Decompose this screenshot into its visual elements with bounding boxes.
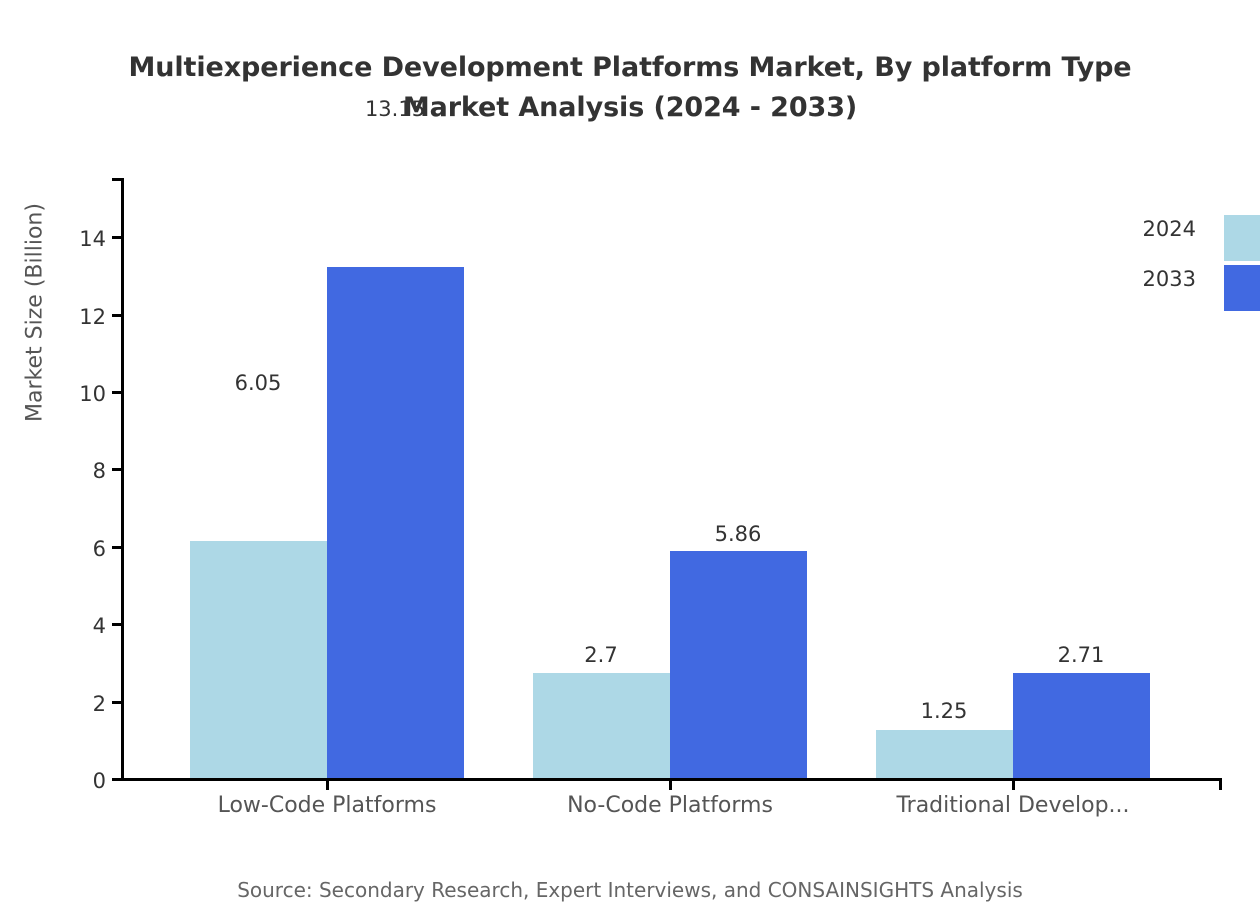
legend: 2024 2033 [1120, 215, 1260, 315]
bar-value-2033-traditional-development: 2.71 [1058, 643, 1105, 667]
bar-2033-no-code-platforms[interactable] [670, 551, 807, 778]
y-tick-8 [112, 468, 124, 471]
y-tick-0 [112, 778, 124, 781]
legend-swatch-2024 [1224, 215, 1260, 261]
y-tick-label-8: 8 [0, 459, 106, 483]
y-tick-14 [112, 236, 124, 239]
y-tick-label-2: 2 [0, 692, 106, 716]
title-line-2: Market Analysis (2024 - 2033) [0, 88, 1260, 128]
y-tick-label-4: 4 [0, 614, 106, 638]
y-tick-10 [112, 391, 124, 394]
bar-value-2024-no-code-platforms: 2.7 [584, 643, 617, 667]
x-tick-label-no-code: No-Code Platforms [567, 793, 773, 818]
y-tick-label-0: 0 [0, 769, 106, 793]
x-axis-right-cap [1219, 778, 1222, 790]
bar-value-2033-no-code-platforms: 5.86 [715, 522, 762, 546]
bar-value-2024-low-code-platforms: 6.05 [235, 371, 282, 395]
x-tick-label-traditional: Traditional Develop... [896, 793, 1129, 818]
plot-area: 6.05 13.15 2.7 5.86 1.25 2.71 [121, 178, 1222, 781]
y-tick-label-6: 6 [0, 537, 106, 561]
y-tick-6 [112, 546, 124, 549]
x-tick-low-code [326, 778, 329, 790]
y-tick-label-10: 10 [0, 382, 106, 406]
bar-2033-low-code-platforms[interactable] [327, 267, 464, 778]
y-axis-top-cap [112, 178, 124, 181]
bar-2024-traditional-development[interactable] [876, 730, 1013, 778]
y-axis-spine [121, 178, 124, 781]
bar-2024-no-code-platforms[interactable] [533, 673, 670, 778]
legend-label-2033: 2033 [1143, 267, 1196, 291]
bar-2033-traditional-development[interactable] [1013, 673, 1150, 778]
x-axis-tick-labels: Low-Code Platforms No-Code Platforms Tra… [121, 793, 1222, 833]
legend-swatch-2033 [1224, 265, 1260, 311]
source-note: Source: Secondary Research, Expert Inter… [0, 878, 1260, 902]
y-axis-tick-labels: 0 2 4 6 8 10 12 14 [0, 178, 106, 781]
bar-2024-low-code-platforms[interactable] [190, 541, 327, 778]
legend-item-2033[interactable]: 2033 [1120, 265, 1260, 311]
x-tick-label-low-code: Low-Code Platforms [218, 793, 437, 818]
x-tick-no-code [669, 778, 672, 790]
y-tick-label-12: 12 [0, 305, 106, 329]
y-tick-4 [112, 623, 124, 626]
legend-item-2024[interactable]: 2024 [1120, 215, 1260, 261]
page-title: Multiexperience Development Platforms Ma… [0, 48, 1260, 128]
y-tick-label-14: 14 [0, 227, 106, 251]
y-tick-2 [112, 701, 124, 704]
title-line-1: Multiexperience Development Platforms Ma… [0, 48, 1260, 88]
bar-value-2033-low-code-platforms: 13.15 [365, 97, 425, 121]
bar-value-2024-traditional-development: 1.25 [921, 699, 968, 723]
x-tick-traditional [1012, 778, 1015, 790]
legend-label-2024: 2024 [1143, 217, 1196, 241]
y-tick-12 [112, 314, 124, 317]
